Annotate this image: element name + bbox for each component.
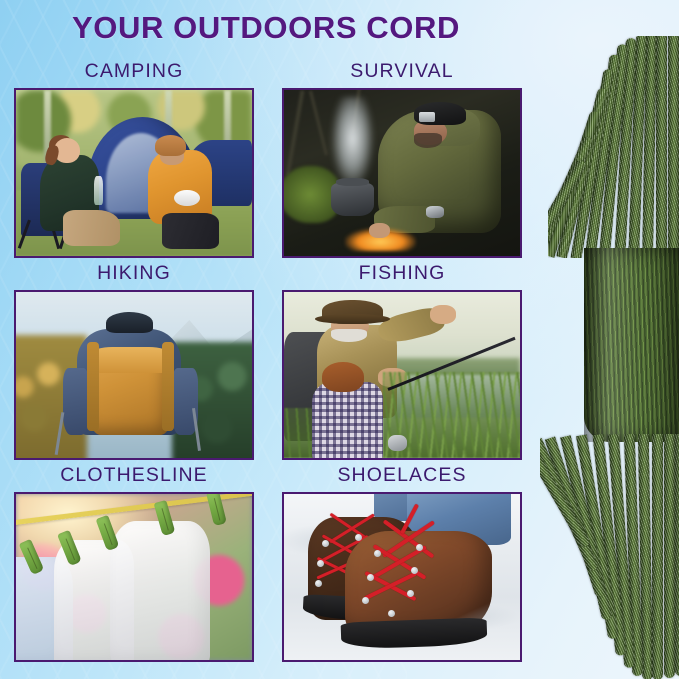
page-title: YOUR OUTDOORS CORD xyxy=(0,10,532,46)
paracord-top-loops xyxy=(548,36,679,258)
panel-label-shoelaces: SHOELACES xyxy=(282,464,522,487)
paracord-hank-image xyxy=(540,36,679,679)
photo-clothesline xyxy=(14,492,254,662)
panel-shoelaces: SHOELACES xyxy=(282,464,522,662)
panel-camping: CAMPING xyxy=(14,60,254,258)
infographic-canvas: YOUR OUTDOORS CORD CAMPING xyxy=(0,0,679,679)
panel-fishing: FISHING xyxy=(282,262,522,460)
panel-label-hiking: HIKING xyxy=(14,262,254,285)
paracord-wrapped-coil xyxy=(584,248,679,442)
panel-clothesline: CLOTHESLINE xyxy=(14,464,254,662)
panel-label-camping: CAMPING xyxy=(14,60,254,83)
panel-hiking: HIKING xyxy=(14,262,254,460)
panel-label-survival: SURVIVAL xyxy=(282,60,522,83)
photo-fishing xyxy=(282,290,522,460)
panel-label-fishing: FISHING xyxy=(282,262,522,285)
paracord-bottom-loops xyxy=(540,434,679,679)
photo-shoelaces xyxy=(282,492,522,662)
panel-survival: SURVIVAL xyxy=(282,60,522,258)
photo-hiking xyxy=(14,290,254,460)
photo-survival xyxy=(282,88,522,258)
panel-label-clothesline: CLOTHESLINE xyxy=(14,464,254,487)
photo-camping xyxy=(14,88,254,258)
